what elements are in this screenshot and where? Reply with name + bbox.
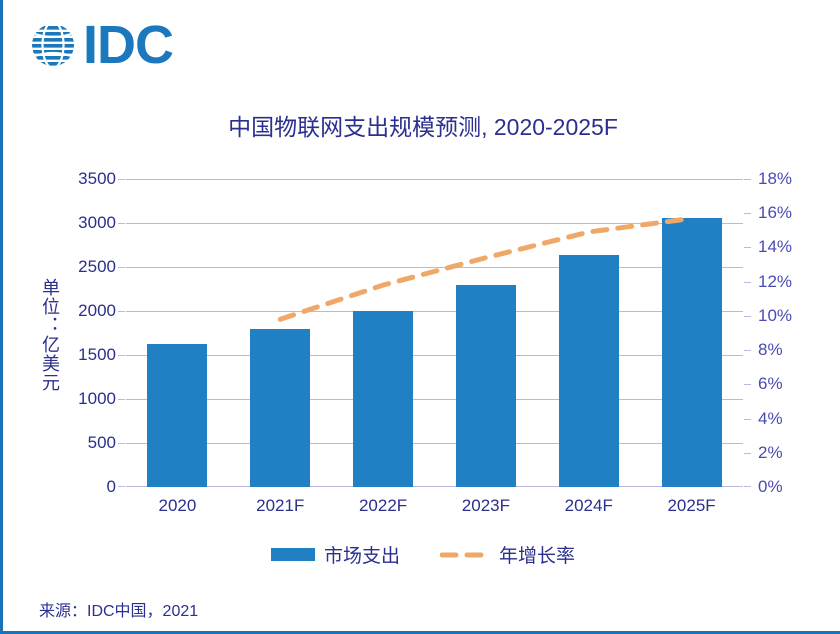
- y-tick-left-2000: 2000: [78, 301, 116, 321]
- tick-left-500: [118, 443, 125, 444]
- tick-right-12: [744, 282, 751, 283]
- tick-left-1500: [118, 355, 125, 356]
- tick-right-2: [744, 453, 751, 454]
- y-tick-right-6: 6%: [758, 374, 783, 394]
- legend-label-spending: 市场支出: [324, 541, 400, 568]
- growth-rate-polyline: [280, 218, 691, 319]
- tick-right-16: [744, 213, 751, 214]
- x-label-2024F: 2024F: [537, 496, 640, 526]
- y-tick-right-10: 10%: [758, 306, 792, 326]
- y-axis-right-labels: 18% 16% 14% 12% 10% 8% 6% 4% 2% 0%: [758, 179, 828, 487]
- y-tick-right-18: 18%: [758, 169, 792, 189]
- y-tick-left-2500: 2500: [78, 257, 116, 277]
- y-tick-left-3500: 3500: [78, 169, 116, 189]
- legend-item-spending[interactable]: 市场支出: [271, 541, 400, 568]
- y-tick-right-0: 0%: [758, 477, 783, 497]
- tick-right-4: [744, 419, 751, 420]
- tick-right-8: [744, 350, 751, 351]
- legend-bar-swatch-icon: [271, 548, 315, 561]
- legend-label-growth-rate: 年增长率: [499, 541, 575, 568]
- source-note: 来源：IDC中国，2021: [39, 597, 198, 621]
- chart-legend: 市场支出 年增长率: [3, 541, 840, 568]
- legend-dashed-line-icon: [440, 548, 490, 562]
- growth-rate-line: [126, 179, 743, 487]
- x-label-2020: 2020: [126, 496, 229, 526]
- tick-left-2500: [118, 267, 125, 268]
- tick-right-10: [744, 316, 751, 317]
- y-tick-left-1000: 1000: [78, 389, 116, 409]
- y-tick-right-4: 4%: [758, 409, 783, 429]
- y-tick-right-2: 2%: [758, 443, 783, 463]
- y-tick-left-3000: 3000: [78, 213, 116, 233]
- y-tick-left-500: 500: [88, 433, 116, 453]
- chart-canvas: 单位：亿美元 3500 3000 2500 2000 1500 1000 500…: [3, 0, 840, 634]
- x-axis-labels: 2020 2021F 2022F 2023F 2024F 2025F: [126, 496, 743, 526]
- plot-area: [126, 179, 743, 487]
- tick-left-3000: [118, 223, 125, 224]
- y-tick-left-0: 0: [107, 477, 116, 497]
- y-tick-right-8: 8%: [758, 340, 783, 360]
- y-tick-left-1500: 1500: [78, 345, 116, 365]
- x-label-2021F: 2021F: [229, 496, 332, 526]
- tick-right-0: [744, 486, 751, 487]
- tick-left-1000: [118, 399, 125, 400]
- y-axis-left-labels: 3500 3000 2500 2000 1500 1000 500 0: [58, 179, 116, 487]
- legend-item-growth-rate[interactable]: 年增长率: [440, 541, 575, 568]
- tick-right-14: [744, 247, 751, 248]
- tick-right-18: [744, 179, 751, 180]
- tick-left-3500: [118, 179, 125, 180]
- x-label-2022F: 2022F: [332, 496, 435, 526]
- x-label-2025F: 2025F: [640, 496, 743, 526]
- y-tick-right-16: 16%: [758, 203, 792, 223]
- tick-left-0: [118, 486, 125, 487]
- tick-right-6: [744, 384, 751, 385]
- x-label-2023F: 2023F: [434, 496, 537, 526]
- tick-left-2000: [118, 311, 125, 312]
- chart-page: IDC 中国物联网支出规模预测, 2020-2025F 单位：亿美元 3500 …: [0, 0, 840, 634]
- y-tick-right-14: 14%: [758, 237, 792, 257]
- y-tick-right-12: 12%: [758, 272, 792, 292]
